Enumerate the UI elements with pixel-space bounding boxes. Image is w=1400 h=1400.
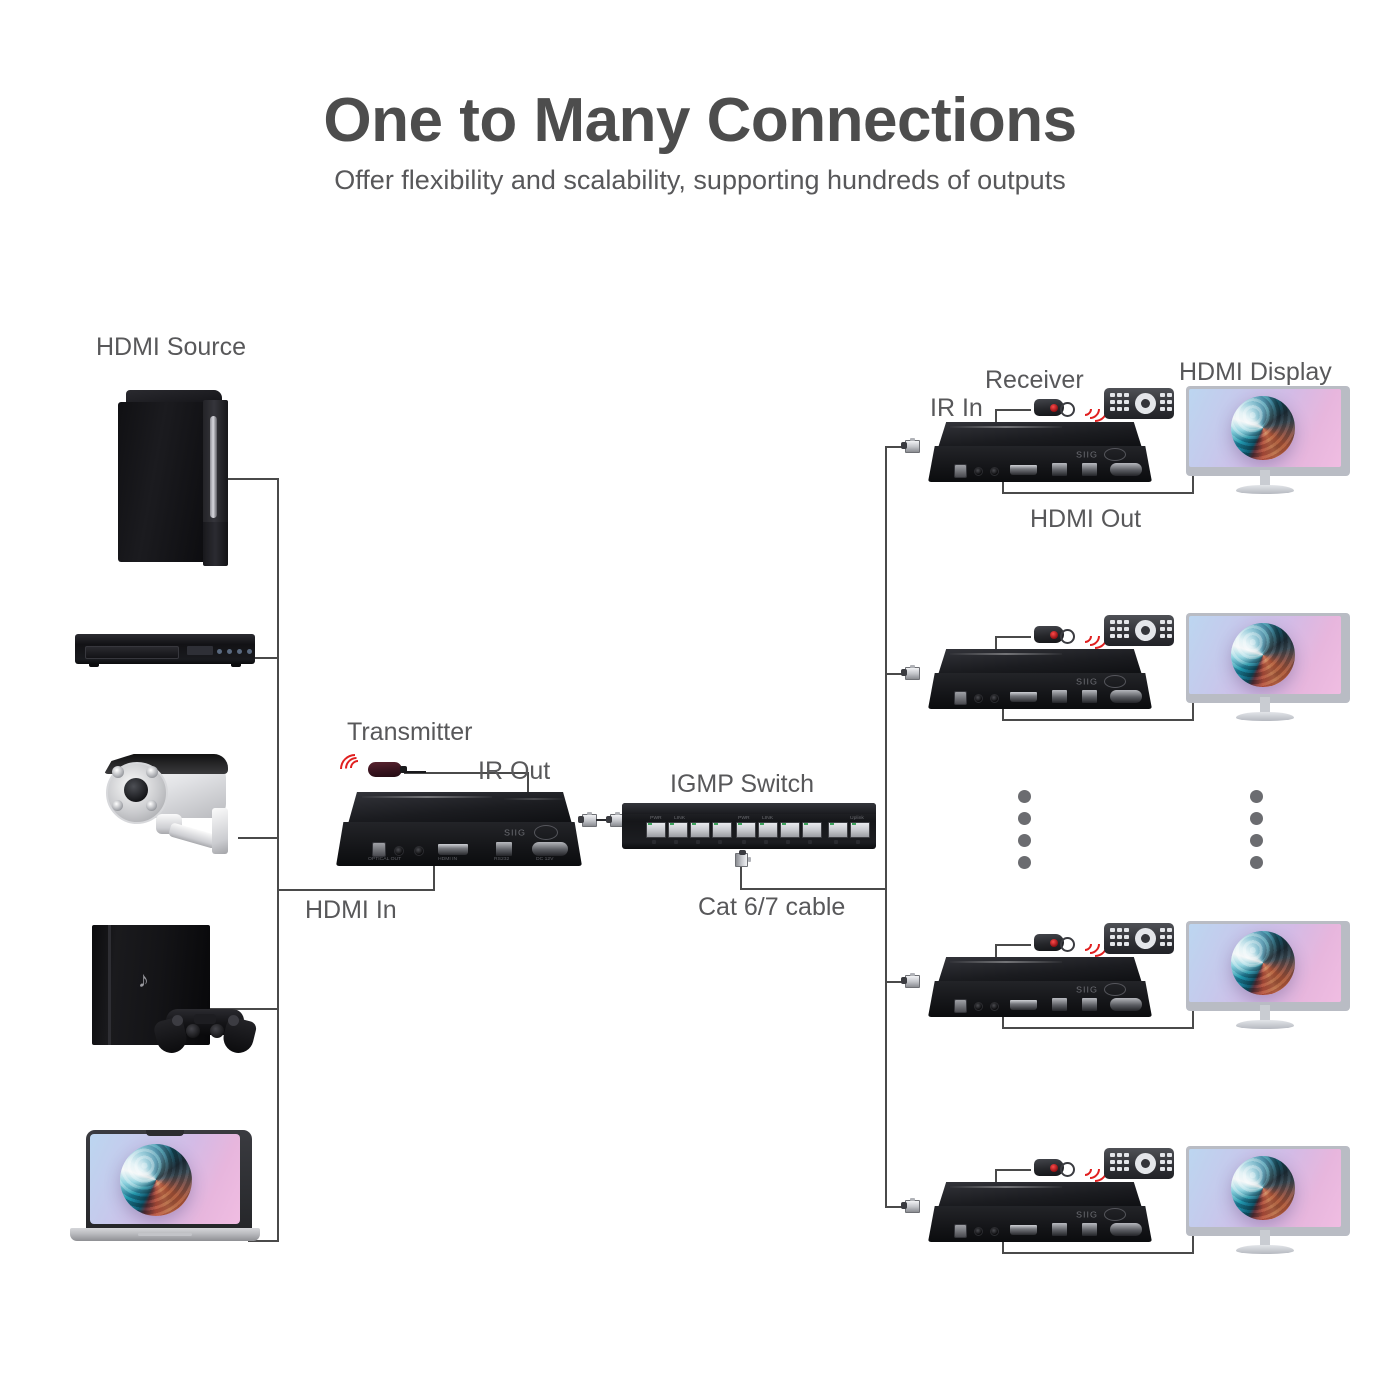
branch-pc xyxy=(222,478,279,480)
rx-ir-in-port-1 xyxy=(974,467,983,476)
ir-receiver-dongle-3 xyxy=(1028,930,1074,956)
hdmi-display-2 xyxy=(1186,613,1346,723)
switch-port-4 xyxy=(712,822,732,838)
hdmi-in-label: HDMI In xyxy=(305,896,397,925)
switch-port-9 xyxy=(828,822,848,838)
ir-in-line-h-2 xyxy=(995,636,1031,638)
rj45-plug-tx xyxy=(578,812,598,828)
receiver-label: Receiver xyxy=(985,366,1084,395)
transmitter-brand: SIIG xyxy=(504,829,526,838)
ir-in-line-h-4 xyxy=(995,1169,1031,1171)
rx-ir-out-port-1 xyxy=(990,467,999,476)
ir-receiver-dongle-2 xyxy=(1028,622,1074,648)
ir-waves-1 xyxy=(1078,396,1102,420)
receiver-bus-line xyxy=(885,446,887,1206)
rx-optical-port-3 xyxy=(954,999,967,1013)
game-controller xyxy=(150,1005,260,1053)
switch-port-10 xyxy=(850,822,870,838)
rx-ir-out-port-4 xyxy=(990,1227,999,1236)
hdmi-in-line-h xyxy=(277,889,435,891)
tx-usb-port xyxy=(496,842,512,856)
transmitter-unit: SIIG OPTICAL OUT HDMI IN RS232 DC 12V xyxy=(336,792,582,868)
receiver-unit-2: SIIG xyxy=(928,649,1152,711)
hdmi-display-1 xyxy=(1186,386,1346,496)
source-security-camera xyxy=(96,750,246,860)
switch-port-2 xyxy=(668,822,688,838)
display-wallpaper-4 xyxy=(1189,1149,1341,1227)
ir-receiver-dongle-4 xyxy=(1028,1155,1074,1181)
ir-waves-4 xyxy=(1078,1156,1102,1180)
ir-receiver-dongle-1 xyxy=(1028,395,1074,421)
tx-port-6-label: DC 12V xyxy=(536,856,554,861)
tx-rs232-port xyxy=(532,842,568,856)
rx-hdmi-out-port-3 xyxy=(1010,1000,1037,1010)
switch-port-1 xyxy=(646,822,666,838)
rj45-plug-rx-2 xyxy=(901,665,921,681)
rx-usb-port-a-1 xyxy=(1052,463,1067,476)
ir-remote-3 xyxy=(1104,923,1174,954)
hdmi-out-line-h-3 xyxy=(1002,1027,1194,1029)
rx-serial-port-1 xyxy=(1110,463,1142,476)
rx-hdmi-out-port-4 xyxy=(1010,1225,1037,1235)
igmp-switch-unit: PWR LINK PWR LINK Uplink xyxy=(622,803,876,849)
rx-optical-port-2 xyxy=(954,691,967,705)
hdmi-source-label: HDMI Source xyxy=(96,333,246,362)
rj45-plug-rx-1 xyxy=(901,438,921,454)
diagram-canvas: One to Many Connections Offer flexibilit… xyxy=(0,0,1400,1400)
rx-brand-4: SIIG xyxy=(1076,1211,1098,1220)
page-title: One to Many Connections xyxy=(0,85,1400,156)
rx-optical-port-1 xyxy=(954,464,967,478)
ir-remote-2 xyxy=(1104,615,1174,646)
rx-serial-port-4 xyxy=(1110,1223,1142,1236)
tx-hdmi-in-port xyxy=(438,844,468,855)
rx-ir-out-port-3 xyxy=(990,1002,999,1011)
rx-ir-out-port-2 xyxy=(990,694,999,703)
rj45-plug-rx-4 xyxy=(901,1198,921,1214)
ir-out-label: IR Out xyxy=(478,757,550,786)
rx-ir-in-port-2 xyxy=(974,694,983,703)
ir-emitter-dongle xyxy=(352,756,408,788)
branch-dvd xyxy=(255,657,279,659)
rx-hdmi-out-port-1 xyxy=(1010,465,1037,475)
hdmi-display-3 xyxy=(1186,921,1346,1031)
receiver-unit-3: SIIG xyxy=(928,957,1152,1019)
rx-usb-port-b-1 xyxy=(1082,463,1097,476)
hdmi-display-label: HDMI Display xyxy=(1179,358,1332,387)
transmitter-label: Transmitter xyxy=(347,718,472,747)
rx-usb-port-b-2 xyxy=(1082,690,1097,703)
switch-uplink-label: Uplink xyxy=(850,815,864,820)
ir-emitter-cable xyxy=(404,771,426,773)
laptop-wallpaper xyxy=(90,1134,240,1224)
tx-ir-in-port xyxy=(414,846,424,856)
switch-port-7 xyxy=(780,822,800,838)
receiver-unit-1: SIIG xyxy=(928,422,1152,484)
ir-in-line-h-3 xyxy=(995,944,1031,946)
rx-serial-port-2 xyxy=(1110,690,1142,703)
rx-usb-port-b-3 xyxy=(1082,998,1097,1011)
hdmi-display-4 xyxy=(1186,1146,1346,1256)
source-laptop xyxy=(70,1130,260,1255)
ir-remote-4 xyxy=(1104,1148,1174,1179)
rx-serial-port-3 xyxy=(1110,998,1142,1011)
rx-ir-in-port-4 xyxy=(974,1227,983,1236)
ir-in-line-h-1 xyxy=(995,409,1031,411)
tx-ir-out-port xyxy=(394,846,404,856)
ir-waves-2 xyxy=(1078,623,1102,647)
receiver-unit-4: SIIG xyxy=(928,1182,1152,1244)
switch-port-6 xyxy=(758,822,778,838)
rx-brand-3: SIIG xyxy=(1076,986,1098,995)
source-bus-line xyxy=(277,478,279,1240)
rx-usb-port-a-2 xyxy=(1052,690,1067,703)
page-subtitle: Offer flexibility and scalability, suppo… xyxy=(0,165,1400,196)
ir-remote-1 xyxy=(1104,388,1174,419)
rx-brand-1: SIIG xyxy=(1076,451,1098,460)
switch-port-3 xyxy=(690,822,710,838)
hdmi-out-line-h-4 xyxy=(1002,1252,1194,1254)
rj45-plug-rx-3 xyxy=(901,973,921,989)
cat-cable-line-h xyxy=(740,888,886,890)
rx-ir-in-port-3 xyxy=(974,1002,983,1011)
display-wallpaper-1 xyxy=(1189,389,1341,467)
igmp-switch-label: IGMP Switch xyxy=(670,770,814,799)
source-game-console: ♪ xyxy=(92,925,260,1055)
tx-port-4-label: HDMI IN xyxy=(438,856,457,861)
display-wallpaper-2 xyxy=(1189,616,1341,694)
source-dvd-player xyxy=(75,630,255,672)
source-desktop-pc xyxy=(118,390,228,568)
rx-brand-2: SIIG xyxy=(1076,678,1098,687)
tx-port-1-label: OPTICAL OUT xyxy=(368,856,401,861)
display-wallpaper-3 xyxy=(1189,924,1341,1002)
switch-port-5 xyxy=(736,822,756,838)
rx-hdmi-out-port-2 xyxy=(1010,692,1037,702)
rx-usb-port-a-3 xyxy=(1052,998,1067,1011)
tx-optical-port xyxy=(372,842,386,857)
switch-port-8 xyxy=(802,822,822,838)
hdmi-out-label: HDMI Out xyxy=(1030,505,1141,534)
rj45-plug-uplink xyxy=(733,850,751,868)
rx-usb-port-a-4 xyxy=(1052,1223,1067,1236)
hdmi-out-line-h-2 xyxy=(1002,719,1194,721)
cat-cable-label: Cat 6/7 cable xyxy=(698,893,845,922)
hdmi-out-line-h-1 xyxy=(1002,492,1194,494)
rx-optical-port-4 xyxy=(954,1224,967,1238)
ir-in-label: IR In xyxy=(930,394,983,423)
rx-usb-port-b-4 xyxy=(1082,1223,1097,1236)
ir-waves-3 xyxy=(1078,931,1102,955)
tx-port-5-label: RS232 xyxy=(494,856,509,861)
